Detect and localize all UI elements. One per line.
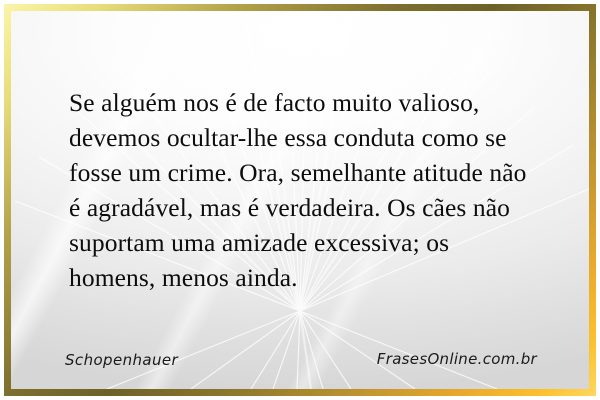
quote-author: Schopenhauer: [65, 351, 178, 369]
site-watermark: FrasesOnline.com.br: [377, 350, 537, 368]
quote-canvas: Se alguém nos é de facto muito valioso, …: [11, 11, 589, 389]
quote-card: Se alguém nos é de facto muito valioso, …: [0, 0, 600, 400]
quote-body-text: Se alguém nos é de facto muito valioso, …: [69, 85, 539, 295]
